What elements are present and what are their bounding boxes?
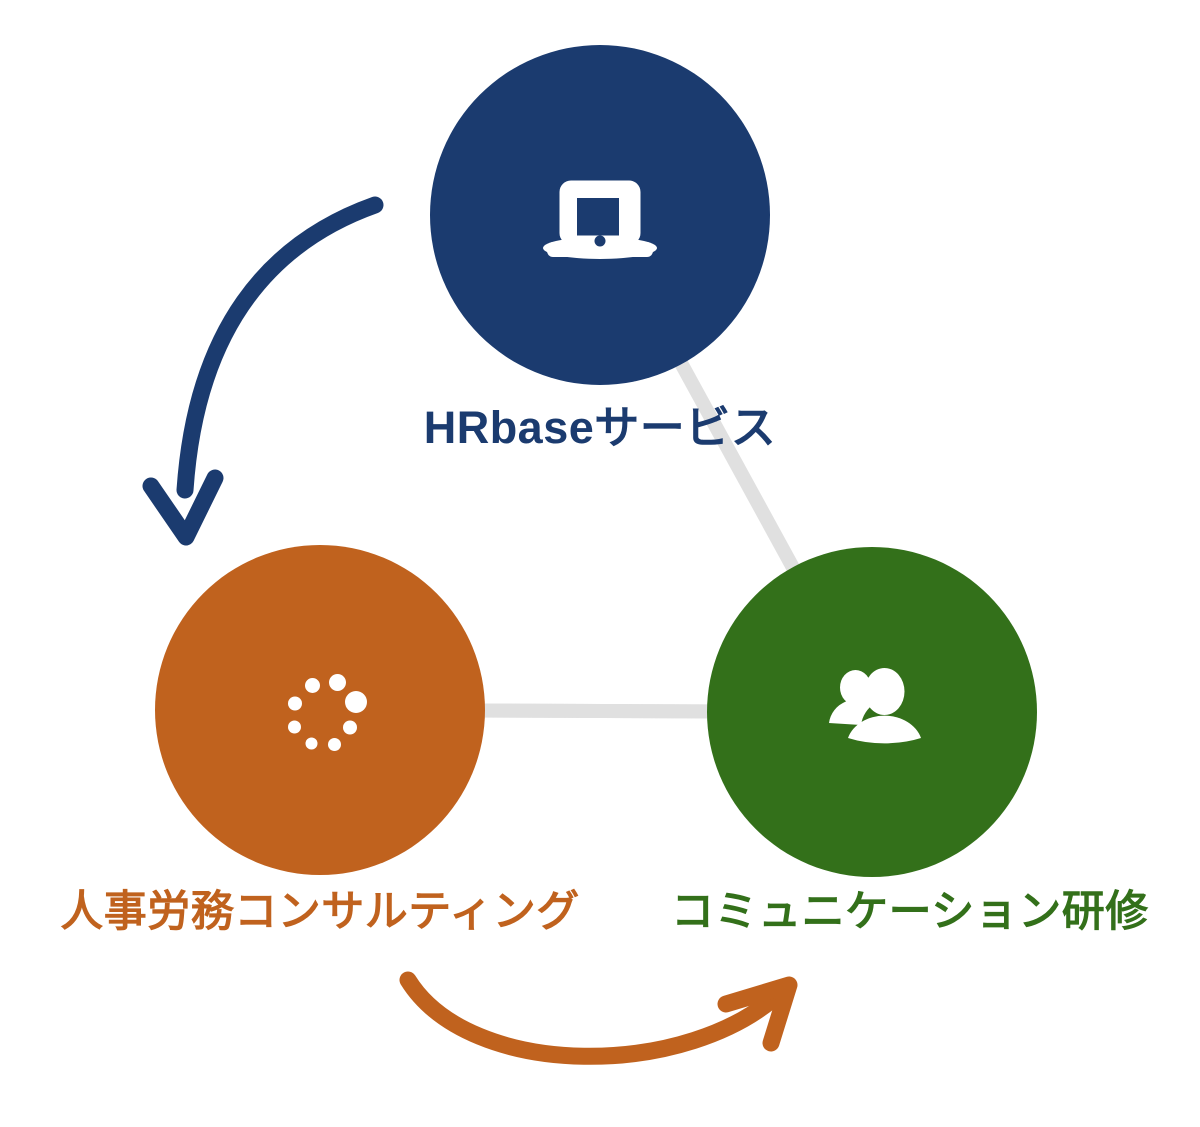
node-hr-consulting[interactable] [155,545,485,875]
curved-arrow-right-up [408,980,789,1056]
node-label-communication-training: コミュニケーション研修 [620,891,1200,934]
node-circle-hr-consulting[interactable] [155,545,485,875]
curved-arrow-down-left [151,205,375,537]
diagram-canvas: HRbaseサービス 人事労務コンサルティング コミュニケーション研修 [0,0,1200,1127]
node-label-hrbase-service: HRbaseサービス [0,405,1200,450]
node-label-hr-consulting: 人事労務コンサルティング [0,891,640,934]
node-communication-training[interactable] [707,547,1037,877]
node-circle-hrbase-service[interactable] [430,45,770,385]
laptop-trackpad-dot [595,236,606,247]
curved-arrow-right-up-shaft [408,980,783,1056]
node-hrbase-service[interactable] [430,45,770,385]
service-cycle-diagram [0,0,1200,1127]
node-circle-communication-training[interactable] [707,547,1037,877]
